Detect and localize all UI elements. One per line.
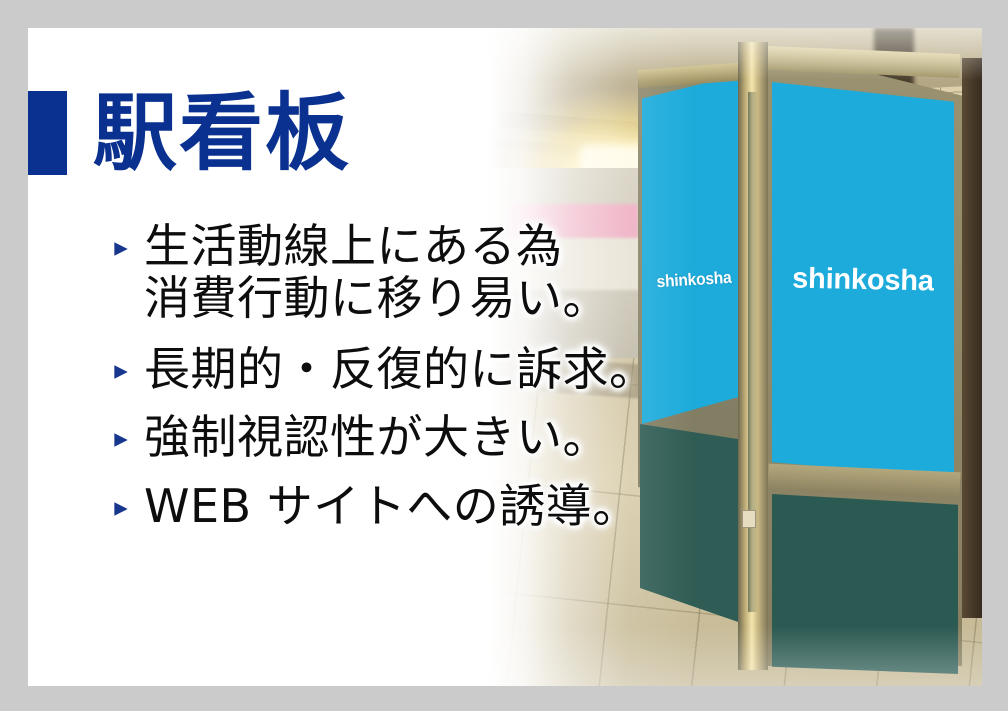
triangle-bullet-icon: ▸ bbox=[98, 220, 144, 261]
wall-recess-shadow bbox=[962, 58, 982, 618]
list-item-text: 生活動線上にある為 消費行動に移り易い。 bbox=[144, 220, 798, 325]
bullet-list: ▸ 生活動線上にある為 消費行動に移り易い。 ▸ 長期的・反復的に訴求。 ▸ 強… bbox=[98, 220, 798, 546]
list-item: ▸ 強制視認性が大きい。 bbox=[98, 411, 798, 463]
slide-content-card: shinkosha shinkosha 駅看板 bbox=[28, 28, 982, 686]
triangle-bullet-icon: ▸ bbox=[98, 343, 144, 384]
list-item-line: 生活動線上にある為 bbox=[144, 219, 563, 273]
list-item: ▸ 生活動線上にある為 消費行動に移り易い。 bbox=[98, 220, 798, 325]
list-item-text: WEB サイトへの誘導。 bbox=[144, 480, 798, 532]
list-item-line: 長期的・反復的に訴求。 bbox=[144, 342, 656, 396]
list-item: ▸ 長期的・反復的に訴求。 bbox=[98, 343, 798, 395]
list-item-text: 長期的・反復的に訴求。 bbox=[144, 343, 798, 395]
list-item-line: 消費行動に移り易い。 bbox=[144, 272, 798, 324]
list-item-text: 強制視認性が大きい。 bbox=[144, 411, 798, 463]
list-item-line: 強制視認性が大きい。 bbox=[144, 410, 609, 464]
triangle-bullet-icon: ▸ bbox=[98, 480, 144, 521]
list-item-line: WEB サイトへの誘導。 bbox=[144, 479, 639, 533]
slide-root: shinkosha shinkosha 駅看板 bbox=[0, 0, 1008, 711]
triangle-bullet-icon: ▸ bbox=[98, 411, 144, 452]
page-title-row: 駅看板 bbox=[28, 91, 351, 175]
list-item: ▸ WEB サイトへの誘導。 bbox=[98, 480, 798, 532]
title-accent-square bbox=[28, 91, 67, 175]
signboard-right-brand-label: shinkosha bbox=[772, 262, 955, 299]
signboard-right-base bbox=[772, 494, 958, 674]
page-title: 駅看板 bbox=[93, 91, 351, 175]
